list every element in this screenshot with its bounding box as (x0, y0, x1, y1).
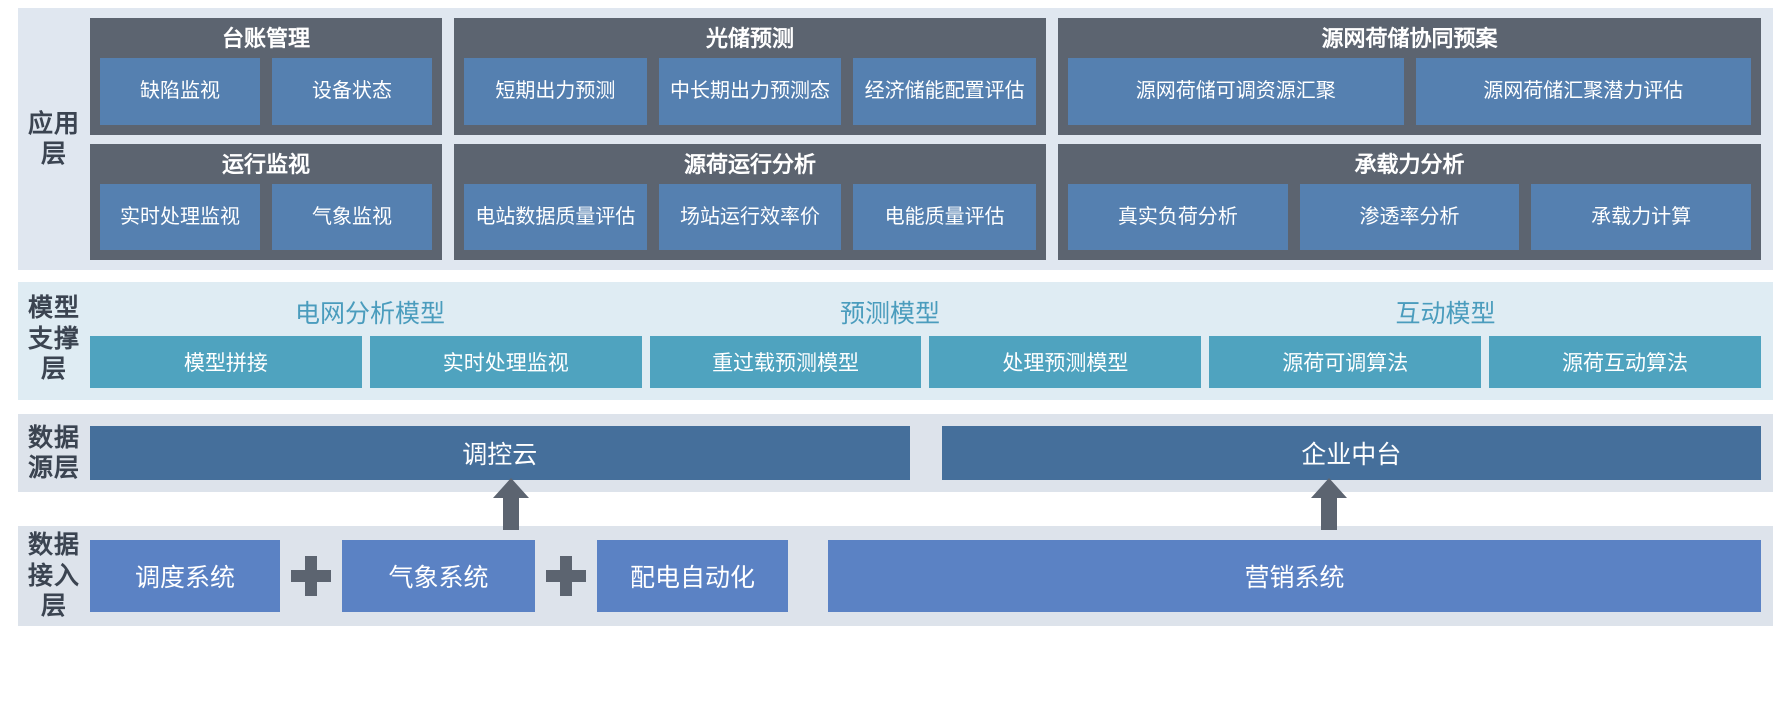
app-item-hosting-capacity-calculation[interactable]: 承载力计算 (1531, 184, 1751, 250)
app-item-economic-storage-config-eval[interactable]: 经济储能配置评估 (853, 58, 1036, 124)
application-row: 台账管理 缺陷监视 设备状态 光储预测 短期出力预测 中长期出力预测态 经济储能… (90, 18, 1761, 135)
app-item-station-operation-efficiency[interactable]: 场站运行效率价 (659, 184, 842, 250)
app-item-short-term-output-forecast[interactable]: 短期出力预测 (464, 58, 647, 124)
model-category-titles: 电网分析模型 预测模型 互动模型 (90, 288, 1761, 336)
app-item-realtime-process-monitoring[interactable]: 实时处理监视 (100, 184, 260, 250)
app-group-title: 台账管理 (222, 26, 310, 52)
app-item-device-status[interactable]: 设备状态 (272, 58, 432, 124)
data-source-item-dispatch-cloud[interactable]: 调控云 (90, 426, 910, 480)
arrow-up-marketing-to-midplatform-icon (1309, 476, 1349, 532)
connector-strip (18, 492, 1773, 526)
model-support-body: 电网分析模型 预测模型 互动模型 模型拼接 实时处理监视 重过载预测模型 处理预… (90, 288, 1761, 390)
model-category-grid-analysis: 电网分析模型 (90, 294, 650, 330)
model-item-model-stitching[interactable]: 模型拼接 (90, 336, 362, 388)
data-access-body: 调度系统 气象系统 配电自动化 营销系统 (90, 540, 1761, 612)
app-group-pv-storage-forecast[interactable]: 光储预测 短期出力预测 中长期出力预测态 经济储能配置评估 (454, 18, 1046, 135)
app-group-items: 电站数据质量评估 场站运行效率价 电能质量评估 (464, 184, 1036, 250)
model-category-forecast: 预测模型 (650, 294, 1130, 330)
app-group-title: 光储预测 (706, 26, 794, 52)
data-source-item-enterprise-midplatform[interactable]: 企业中台 (942, 426, 1762, 480)
layer-label-model-support: 模型支撑层 (18, 288, 90, 390)
app-group-operation-monitoring[interactable]: 运行监视 实时处理监视 气象监视 (90, 144, 442, 261)
app-item-aggregation-potential-eval[interactable]: 源网荷储汇聚潜力评估 (1416, 58, 1752, 124)
application-row: 运行监视 实时处理监视 气象监视 源荷运行分析 电站数据质量评估 场站运行效率价… (90, 144, 1761, 261)
app-item-weather-monitoring[interactable]: 气象监视 (272, 184, 432, 250)
data-access-item-marketing-system[interactable]: 营销系统 (828, 540, 1761, 612)
layer-label-application: 应用层 (18, 18, 90, 260)
app-group-title: 承载力分析 (1354, 152, 1464, 178)
app-item-real-load-analysis[interactable]: 真实负荷分析 (1068, 184, 1288, 250)
layer-label-data-source: 数据源层 (18, 426, 90, 480)
application-body: 台账管理 缺陷监视 设备状态 光储预测 短期出力预测 中长期出力预测态 经济储能… (90, 18, 1761, 260)
app-group-hosting-capacity-analysis[interactable]: 承载力分析 真实负荷分析 渗透率分析 承载力计算 (1058, 144, 1761, 261)
layer-label-data-access: 数据接入层 (18, 540, 90, 612)
app-group-title: 运行监视 (222, 152, 310, 178)
layer-application: 应用层 台账管理 缺陷监视 设备状态 光储预测 短期出力预测 中长期出力预测态 (18, 8, 1773, 270)
app-group-title: 源网荷储协同预案 (1321, 26, 1497, 52)
layer-model-support: 模型支撑层 电网分析模型 预测模型 互动模型 模型拼接 实时处理监视 重过载预测… (18, 282, 1773, 400)
app-group-source-grid-load-storage-plan[interactable]: 源网荷储协同预案 源网荷储可调资源汇聚 源网荷储汇聚潜力评估 (1058, 18, 1761, 135)
model-category-interaction: 互动模型 (1130, 294, 1761, 330)
layer-data-access: 数据接入层 调度系统 气象系统 配电自动化 营销系统 (18, 526, 1773, 626)
app-group-title: 源荷运行分析 (684, 152, 816, 178)
model-item-realtime-process-monitoring[interactable]: 实时处理监视 (370, 336, 642, 388)
architecture-diagram: 应用层 台账管理 缺陷监视 设备状态 光储预测 短期出力预测 中长期出力预测态 (0, 0, 1791, 716)
plus-icon (280, 540, 342, 612)
app-item-adjustable-resource-aggregation[interactable]: 源网荷储可调资源汇聚 (1068, 58, 1404, 124)
model-item-overload-forecast-model[interactable]: 重过载预测模型 (650, 336, 922, 388)
data-access-item-distribution-automation[interactable]: 配电自动化 (597, 540, 788, 612)
app-item-mid-long-term-output-forecast[interactable]: 中长期出力预测态 (659, 58, 842, 124)
app-item-defect-monitoring[interactable]: 缺陷监视 (100, 58, 260, 124)
data-source-body: 调控云 企业中台 (90, 426, 1761, 480)
data-access-item-weather-system[interactable]: 气象系统 (342, 540, 535, 612)
app-group-items: 短期出力预测 中长期出力预测态 经济储能配置评估 (464, 58, 1036, 124)
arrow-up-dispatch-to-cloud-icon (491, 476, 531, 532)
app-group-items: 实时处理监视 气象监视 (100, 184, 432, 250)
data-access-item-dispatch-system[interactable]: 调度系统 (90, 540, 280, 612)
app-group-items: 源网荷储可调资源汇聚 源网荷储汇聚潜力评估 (1068, 58, 1751, 124)
model-item-source-load-interaction-algorithm[interactable]: 源荷互动算法 (1489, 336, 1761, 388)
plus-icon (535, 540, 597, 612)
app-item-power-quality-eval[interactable]: 电能质量评估 (853, 184, 1036, 250)
app-group-items: 真实负荷分析 渗透率分析 承载力计算 (1068, 184, 1751, 250)
app-group-source-load-operation-analysis[interactable]: 源荷运行分析 电站数据质量评估 场站运行效率价 电能质量评估 (454, 144, 1046, 261)
layer-data-source: 数据源层 调控云 企业中台 (18, 414, 1773, 492)
app-item-penetration-rate-analysis[interactable]: 渗透率分析 (1300, 184, 1520, 250)
app-group-items: 缺陷监视 设备状态 (100, 58, 432, 124)
model-item-source-load-adjustable-algorithm[interactable]: 源荷可调算法 (1209, 336, 1481, 388)
model-item-process-forecast-model[interactable]: 处理预测模型 (929, 336, 1201, 388)
model-items: 模型拼接 实时处理监视 重过载预测模型 处理预测模型 源荷可调算法 源荷互动算法 (90, 336, 1761, 390)
app-item-station-data-quality-eval[interactable]: 电站数据质量评估 (464, 184, 647, 250)
app-group-ledger-management[interactable]: 台账管理 缺陷监视 设备状态 (90, 18, 442, 135)
